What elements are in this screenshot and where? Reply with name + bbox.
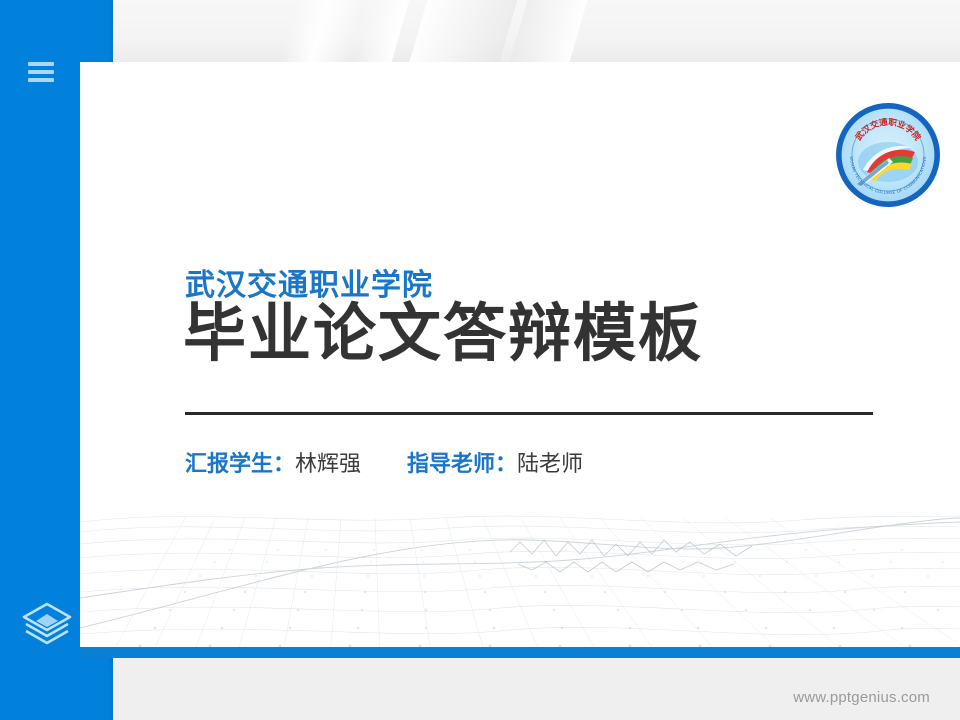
student-name: 林辉强: [295, 451, 361, 476]
university-logo: 武汉交通职业学院 WUHAN TECHNICAL COLLEGE OF COMM…: [833, 100, 943, 210]
advisor-label: 指导老师：: [407, 451, 517, 476]
institution-name: 武汉交通职业学院: [185, 260, 433, 304]
hamburger-bar: [28, 78, 54, 82]
watermark-url: www.pptgenius.com: [793, 689, 930, 706]
wireframe-mesh-graphic: [80, 478, 960, 658]
student-label: 汇报学生：: [185, 451, 295, 476]
title-divider: [185, 412, 873, 415]
page-title: 毕业论文答辩模板: [183, 300, 703, 368]
slide-canvas: 武汉交通职业学院 WUHAN TECHNICAL COLLEGE OF COMM…: [80, 62, 960, 658]
hamburger-menu-icon[interactable]: [28, 62, 54, 82]
hamburger-bar: [28, 70, 54, 74]
background-ribbons: [113, 0, 960, 62]
ribbon-shape: [387, 0, 529, 62]
hamburger-bar: [28, 62, 54, 66]
layers-icon[interactable]: [20, 600, 74, 648]
advisor-name: 陆老师: [517, 451, 583, 476]
presenter-meta-row: 汇报学生：林辉强指导老师：陆老师: [185, 446, 583, 478]
slide-viewer: 武汉交通职业学院 WUHAN TECHNICAL COLLEGE OF COMM…: [0, 0, 960, 720]
slide-accent-bar: [80, 647, 960, 658]
